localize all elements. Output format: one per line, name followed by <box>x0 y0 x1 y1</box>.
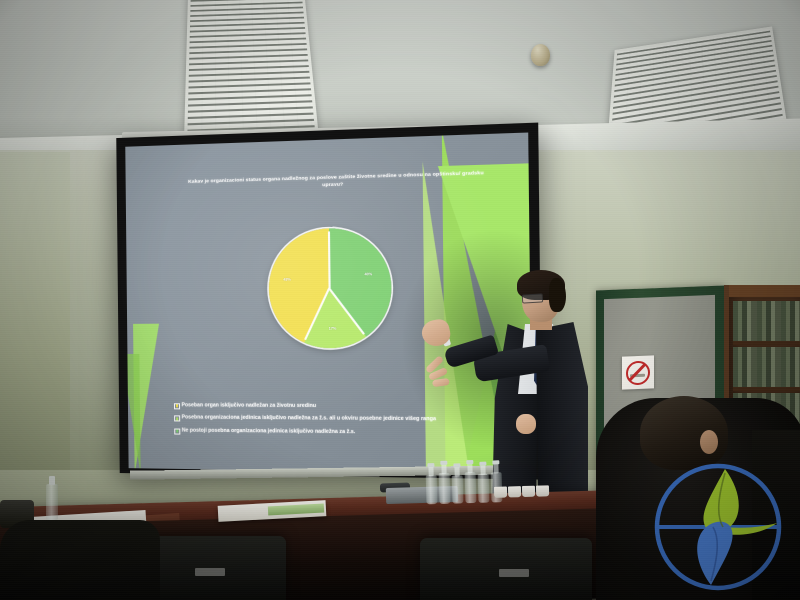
water-bottle <box>439 473 451 504</box>
pie-slice-label: 40% <box>365 272 373 276</box>
water-bottle <box>478 474 490 503</box>
resting-hand <box>516 414 536 434</box>
water-bottle <box>465 472 477 503</box>
chair-label <box>195 568 225 576</box>
legend-item-label: Poseban organ isključivo nadležan za živ… <box>182 402 317 410</box>
cup <box>536 485 549 496</box>
legend-swatch-icon <box>174 403 180 409</box>
chair[interactable] <box>420 538 592 600</box>
shelf-row <box>733 301 800 345</box>
cup <box>508 486 521 497</box>
smoke-detector-icon <box>531 44 550 66</box>
legend-swatch-icon <box>174 416 180 422</box>
water-bottle <box>426 475 438 504</box>
legend-item-label: Posebna organizaciona jedinica isključiv… <box>182 415 436 424</box>
hair-side <box>549 278 566 312</box>
seated-attendee-ear <box>700 430 718 454</box>
cup <box>494 487 507 498</box>
chair-label <box>499 569 529 577</box>
shelf-top <box>725 285 800 297</box>
legend-swatch-icon <box>174 428 180 434</box>
foreground-dark-mass <box>0 520 160 600</box>
pie-slice-label: 43% <box>283 277 291 281</box>
photo-scene: Kakav je organizacioni status organa nad… <box>0 0 800 600</box>
cup <box>522 486 535 497</box>
pie-slice-label: 17% <box>329 327 337 331</box>
shelf-row <box>733 347 800 391</box>
finger <box>432 378 450 387</box>
water-bottle <box>452 475 464 503</box>
left-wall <box>0 152 70 492</box>
slide-decor-wedge <box>125 354 140 474</box>
legend-item-label: Ne postoji posebna organizaciona jedinic… <box>182 427 356 436</box>
water-bottle <box>46 484 58 520</box>
glasses-icon <box>522 293 543 303</box>
pie-chart: 43% 17% 40% <box>268 227 392 348</box>
watermark-logo <box>651 461 785 593</box>
cup-stack-group <box>494 480 556 498</box>
no-smoking-sign-icon <box>622 355 654 389</box>
